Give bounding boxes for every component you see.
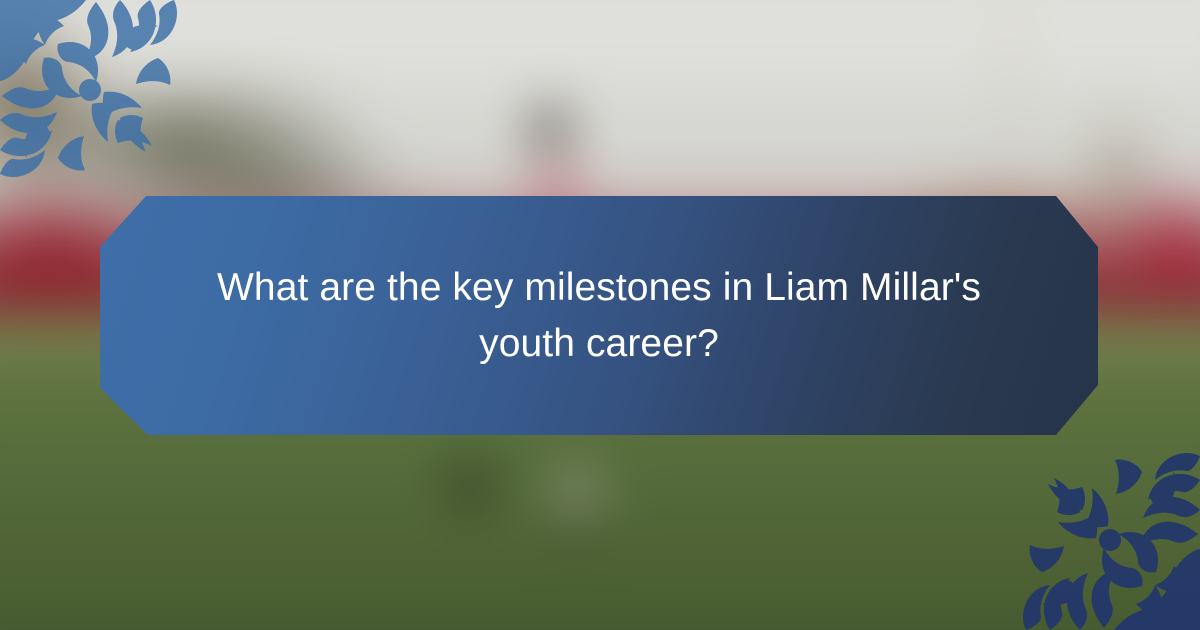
question-banner-inner: What are the key milestones in Liam Mill… xyxy=(164,260,1034,371)
question-banner: What are the key milestones in Liam Mill… xyxy=(100,196,1098,435)
question-text: What are the key milestones in Liam Mill… xyxy=(164,260,1034,371)
question-card: What are the key milestones in Liam Mill… xyxy=(0,0,1200,630)
